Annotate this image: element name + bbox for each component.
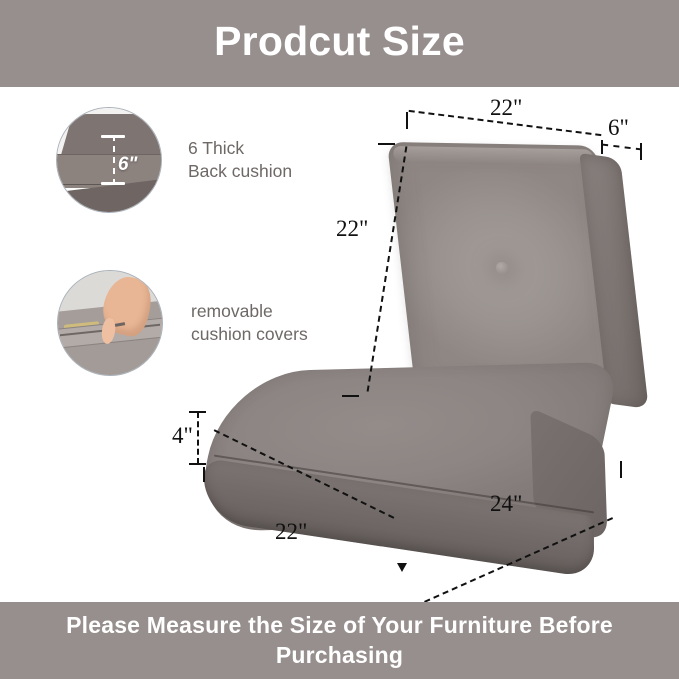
dimension-tick-seat-height-bottom xyxy=(189,463,206,465)
dimension-line-top-depth xyxy=(602,144,642,151)
page-title: Prodcut Size xyxy=(214,21,465,66)
marker-cap-bottom xyxy=(101,182,125,185)
inset-marker-label: 6" xyxy=(118,154,138,176)
zipper-cushion-cover-photo xyxy=(57,270,163,376)
dimension-line-seat-height xyxy=(197,412,199,464)
dimension-label-top-width: 22" xyxy=(490,95,522,121)
cushion-button-tuft xyxy=(495,262,510,275)
marker-dashed-line xyxy=(113,135,115,185)
dimension-tick-seat-width xyxy=(620,461,622,478)
inset-six-inch-marker: 6" xyxy=(105,135,139,185)
product-illustration: 22" 6" 22" 4" 22" 24" xyxy=(170,95,679,595)
header-banner: Prodcut Size xyxy=(0,0,679,87)
zipper-image xyxy=(58,271,162,375)
dimension-tick-top-depth-end xyxy=(640,143,642,160)
dimension-tick-seat-depth xyxy=(203,467,205,482)
dimension-tick-top-depth-start xyxy=(601,140,603,154)
dimension-label-seat-width: 24" xyxy=(490,491,522,517)
dimension-tick-back-height-top xyxy=(378,143,395,145)
back-cushion-highlight xyxy=(392,146,593,165)
footer-banner: Please Measure the Size of Your Furnitur… xyxy=(0,602,679,679)
dimension-tick-back-height-bottom xyxy=(342,395,359,397)
footer-message: Please Measure the Size of Your Furnitur… xyxy=(40,611,640,671)
dimension-label-back-height: 22" xyxy=(336,216,368,242)
back-cushion-thickness-photo: 6" xyxy=(56,107,162,213)
dimension-tick-top-width xyxy=(406,112,408,129)
product-size-infographic: Prodcut Size 6" 6 Thick Back cushion xyxy=(0,0,679,679)
dimension-label-seat-depth: 22" xyxy=(275,519,307,545)
dimension-label-top-depth: 6" xyxy=(608,115,629,141)
dimension-label-seat-height: 4" xyxy=(172,423,193,449)
dimension-arrow-seat-front xyxy=(397,563,407,572)
